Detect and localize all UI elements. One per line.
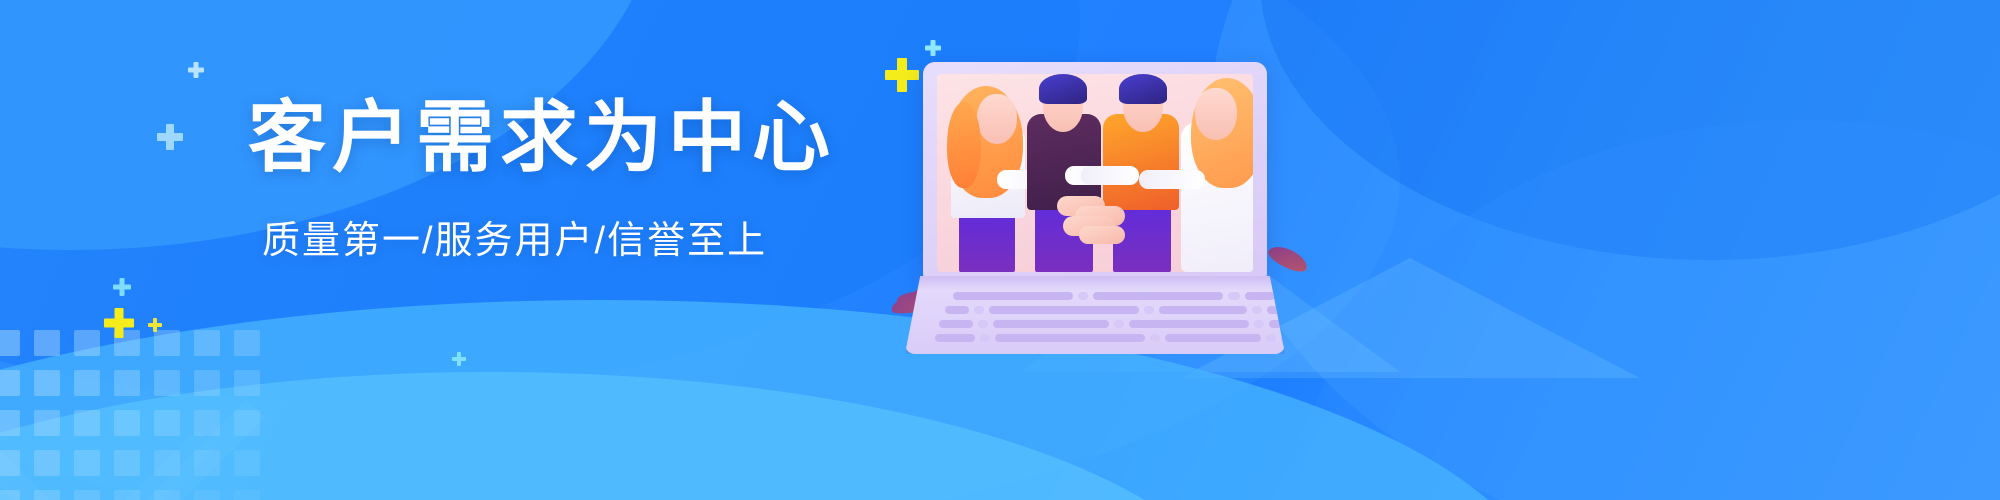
laptop-keyboard-base xyxy=(905,276,1285,354)
sparkle-cross-cyan-right-icon xyxy=(452,352,466,366)
grid-dot xyxy=(34,370,60,396)
banner-text-block: 客户需求为中心 质量第一/服务用户/信誉至上 xyxy=(248,96,888,264)
person-hair xyxy=(1039,74,1087,104)
sparkle-cross-white-top-icon xyxy=(188,62,204,78)
grid-dot xyxy=(0,330,20,356)
grid-dot xyxy=(74,450,100,476)
promo-banner: 客户需求为中心 质量第一/服务用户/信誉至上 xyxy=(0,0,2000,500)
grid-dot xyxy=(34,490,60,500)
grid-dot xyxy=(234,330,260,356)
grid-dot xyxy=(0,450,20,476)
laptop-screen xyxy=(937,74,1253,272)
grid-dot xyxy=(194,490,220,500)
grid-dot xyxy=(74,370,100,396)
person-woman-blonde xyxy=(1173,74,1253,272)
keyboard-key xyxy=(974,306,984,314)
keyboard-key xyxy=(1165,334,1261,342)
person-arm xyxy=(1139,170,1205,189)
sparkle-cross-yellow-tiny-icon xyxy=(148,318,162,332)
grid-dot xyxy=(194,370,220,396)
keyboard-key xyxy=(945,306,969,314)
keyboard-key xyxy=(1252,306,1262,314)
grid-dot xyxy=(154,450,180,476)
keyboard-key xyxy=(939,320,973,328)
grid-dot xyxy=(114,370,140,396)
keyboard-key xyxy=(1114,320,1124,328)
person-hair xyxy=(1119,74,1167,104)
keyboard-key xyxy=(935,334,975,342)
keyboard-key xyxy=(980,334,990,342)
grid-dot xyxy=(154,330,180,356)
keyboard-key xyxy=(1078,292,1088,300)
grid-dot xyxy=(74,410,100,436)
grid-dot xyxy=(234,410,260,436)
grid-dot xyxy=(74,330,100,356)
keyboard-key xyxy=(1228,292,1240,300)
grid-dot xyxy=(194,410,220,436)
sparkle-cross-cyan-small-icon xyxy=(925,40,941,56)
banner-subheadline: 质量第一/服务用户/信誉至上 xyxy=(262,209,888,264)
grid-dot xyxy=(34,330,60,356)
keyboard-key xyxy=(1150,334,1160,342)
grid-dot xyxy=(0,410,20,436)
grid-dot xyxy=(234,450,260,476)
grid-dot xyxy=(0,490,20,500)
keyboard-key xyxy=(1129,320,1249,328)
sparkle-cross-yellow-bottom-icon xyxy=(104,308,134,338)
grid-dot xyxy=(34,410,60,436)
stacked-hands xyxy=(1049,194,1141,246)
keyboard-key xyxy=(978,320,988,328)
grid-dot xyxy=(194,330,220,356)
banner-headline: 客户需求为中心 xyxy=(248,96,888,179)
keyboard-key xyxy=(1144,306,1154,314)
square-dot-grid xyxy=(0,330,274,500)
grid-dot xyxy=(234,370,260,396)
grid-dot xyxy=(0,370,20,396)
grid-dot xyxy=(234,490,260,500)
grid-dot xyxy=(114,450,140,476)
keyboard-key xyxy=(1159,306,1247,314)
grid-dot xyxy=(154,490,180,500)
keyboard-key xyxy=(953,292,1073,300)
keyboard-key xyxy=(993,320,1109,328)
laptop-teamwork-illustration xyxy=(905,62,1285,354)
grid-dot xyxy=(74,490,100,500)
keyboard-key xyxy=(995,334,1145,342)
background-wave-top-right xyxy=(1260,0,2000,260)
keyboard-key xyxy=(1254,320,1264,328)
grid-dot xyxy=(194,450,220,476)
grid-dot xyxy=(154,370,180,396)
keyboard-key xyxy=(1093,292,1223,300)
grid-dot xyxy=(34,450,60,476)
person-head xyxy=(1195,88,1237,140)
sparkle-cross-cyan-mid-icon xyxy=(113,278,131,296)
person-hair-front xyxy=(947,102,981,188)
person-arm xyxy=(1081,166,1139,185)
person-head xyxy=(977,94,1017,144)
sparkle-cross-white-mid-icon xyxy=(157,124,183,150)
grid-dot xyxy=(114,410,140,436)
hand xyxy=(1079,226,1125,244)
grid-dot xyxy=(154,410,180,436)
keyboard-key xyxy=(989,306,1139,314)
keyboard-key xyxy=(1266,334,1276,342)
laptop-lid xyxy=(923,62,1267,278)
grid-dot xyxy=(114,490,140,500)
keyboard-key xyxy=(1245,292,1275,300)
